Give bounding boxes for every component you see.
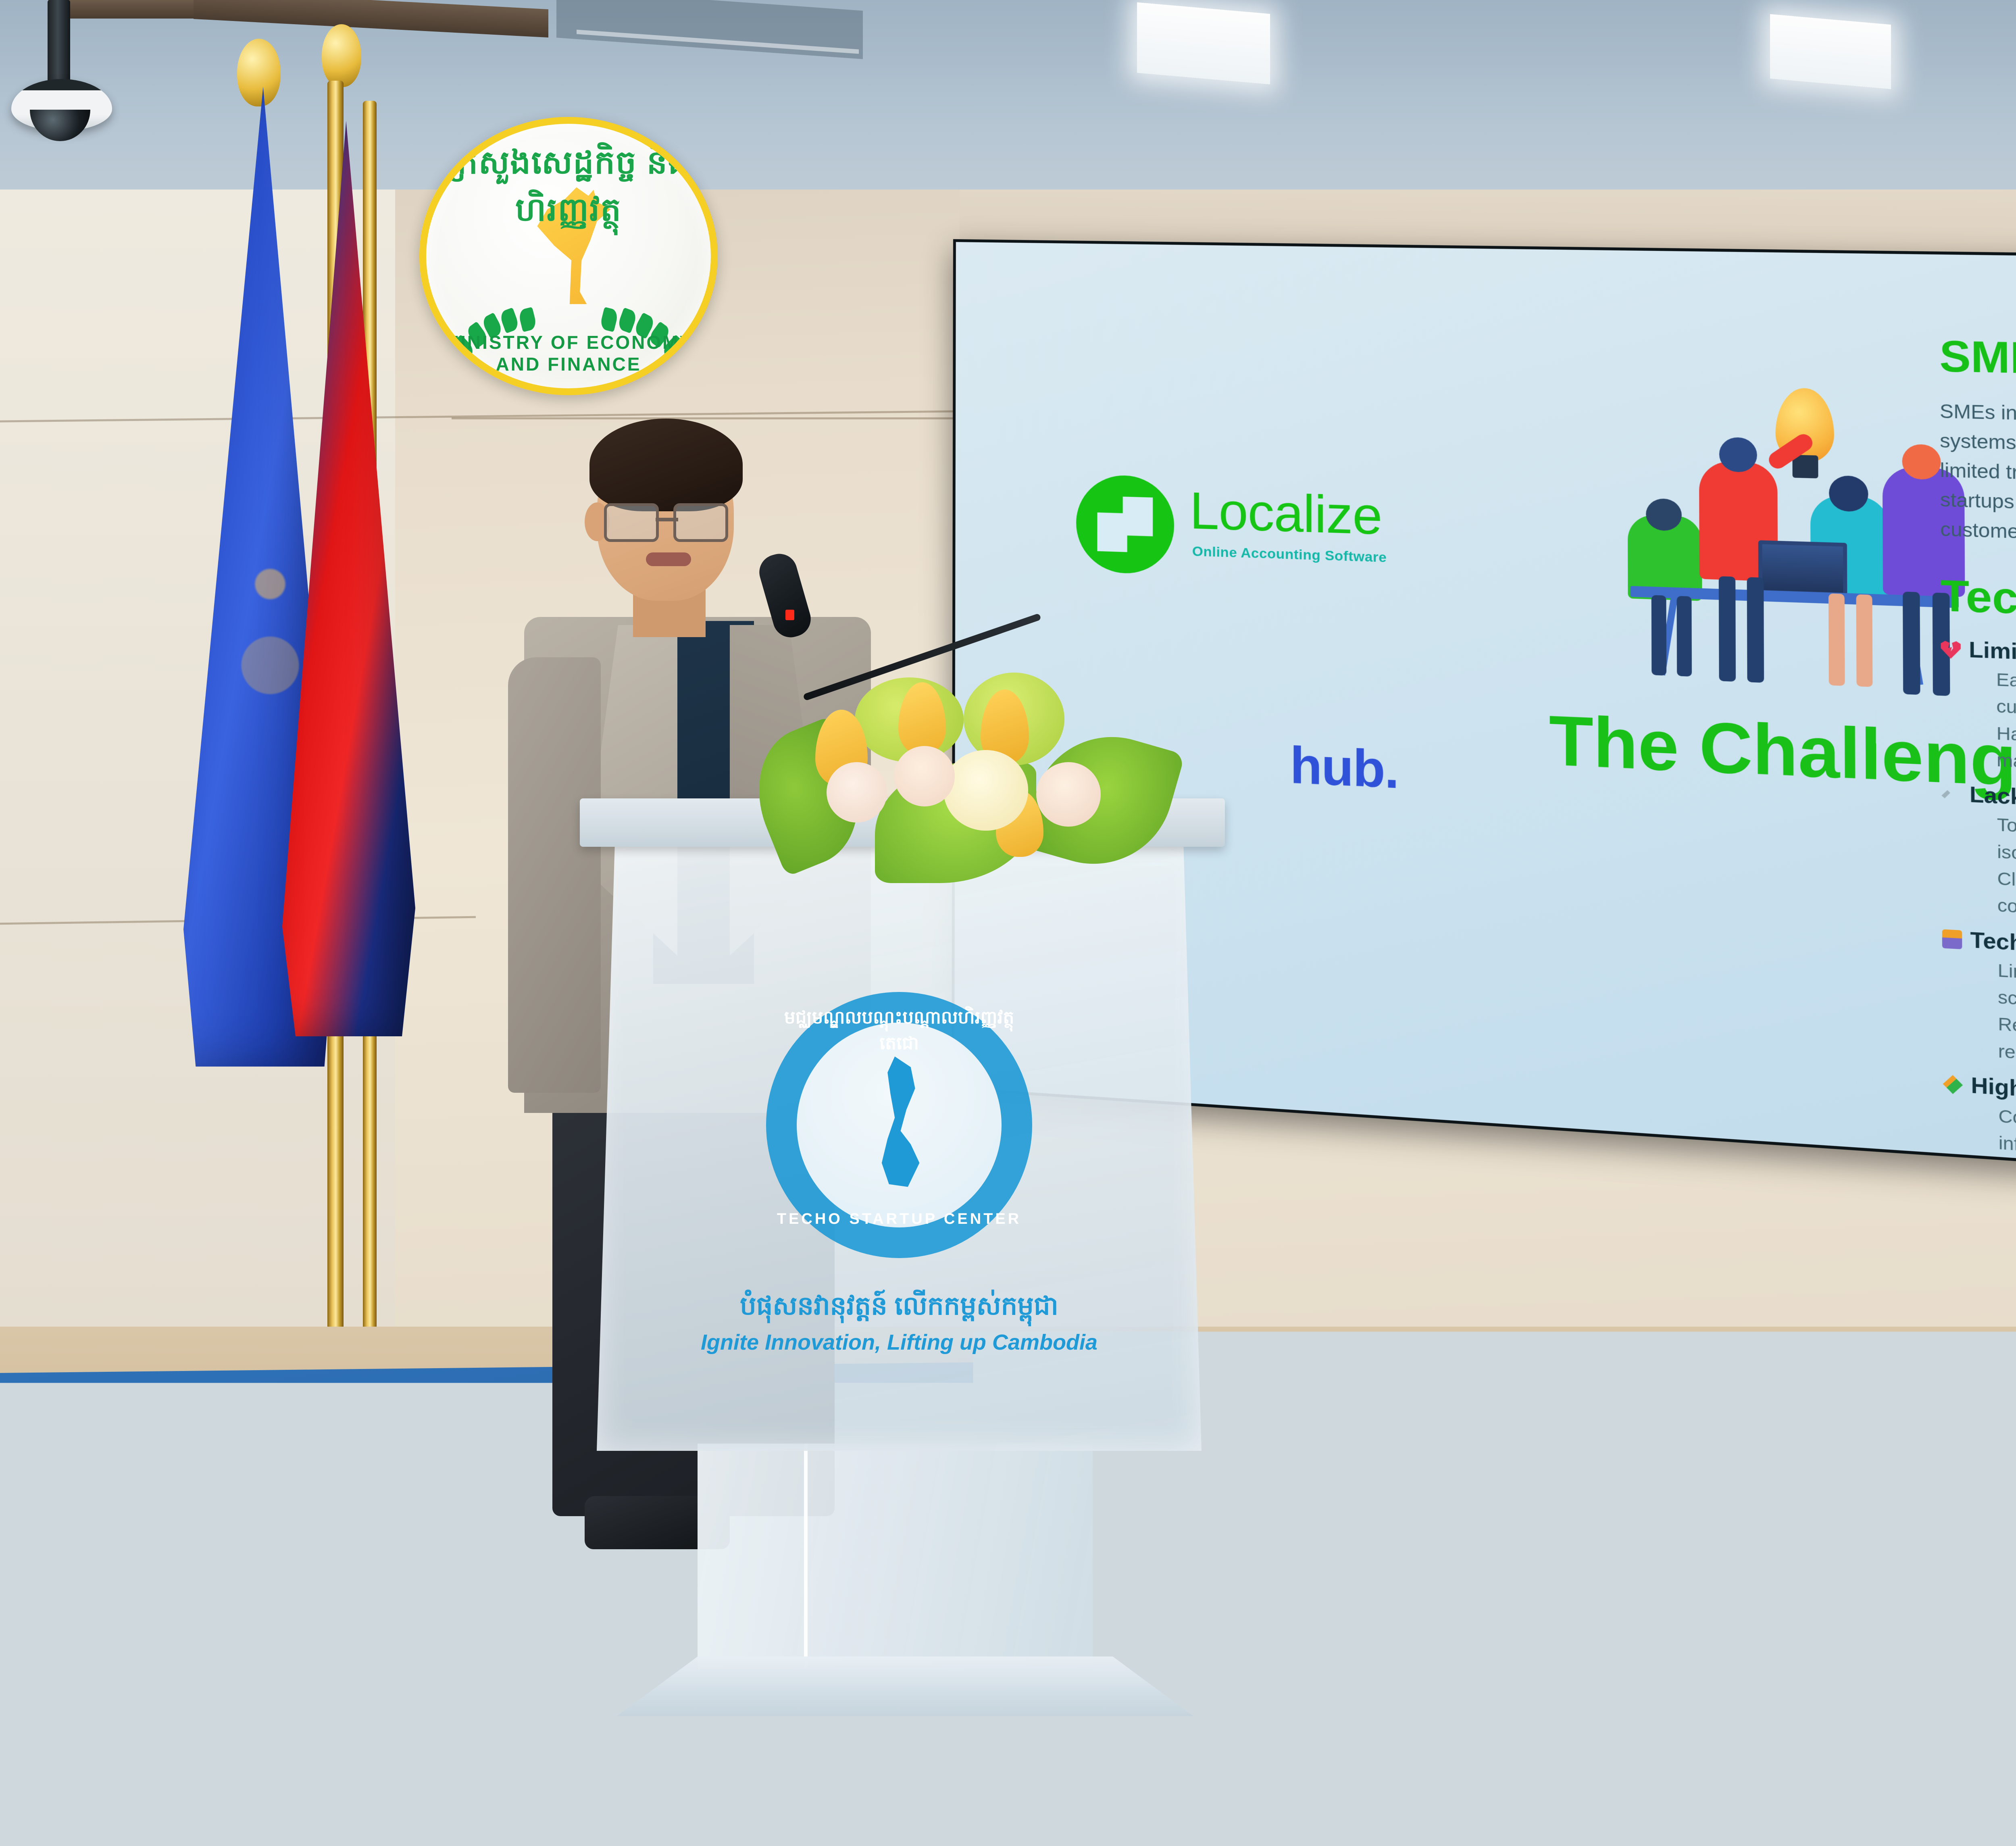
bullet-item: Limited Market Reach Each startup strugg… [1941,636,2016,795]
podium-column-edge [804,1444,808,1669]
bullet-item: Technical Gaps Limited experience in int… [1942,926,2016,1095]
broken-heart-icon [1941,640,1961,659]
flower-arrangement [754,629,1181,895]
podium-english-tagline: Ignite Innovation, Lifting up Cambodia [613,1330,1185,1355]
podium-khmer-tagline: បំផុសនវានុវត្តន៍ លើកកម្ពស់កម្ពុជា [613,1290,1185,1327]
localize-tagline: Online Accounting Software [1192,544,1387,566]
microphone-led-indicator [785,610,794,620]
bullet-item: Lack of Integration Tools (POS, Accounti… [1941,781,2016,945]
localize-name: Localize [1190,481,1382,547]
sme-body: SMEs in Cambodia often rely on manual or… [1940,396,2016,560]
cream-rose [943,750,1028,831]
podium-column [698,1444,1093,1669]
camera-mount [48,0,70,85]
lightbulb-base [1792,455,1818,478]
seal-khmer-text: មជ្ឈមណ្ឌលបណ្ដុះបណ្ដាលហិរញ្ញវត្ថុ តេជោ [766,1006,1032,1058]
speaker-hair [589,419,743,511]
cream-rose [827,762,887,823]
presentation-photo: ក្រសួងសេដ្ឋកិច្ច និង ហិរញ្ញវត្ថុ MINISTR… [0,0,2016,1846]
eyeglasses-icon [673,503,728,542]
cream-rose [894,746,955,806]
sme-heading: SMEs [1939,331,2016,393]
localize-mark-inner [1097,496,1153,553]
eyeglasses-icon [604,503,659,542]
ceiling-beam [48,0,194,19]
flag-finial [237,39,281,106]
cream-rose [1036,762,1101,827]
eyeglasses-bridge [656,518,678,521]
flag-finial [322,24,361,87]
laptop-icon [1758,540,1847,597]
seal-english-text: TECHO STARTUP CENTER [766,1211,1032,1228]
team-brainstorm-lightbulb-illustration [1604,376,1972,683]
bullet-title: Technical Gaps [1970,927,2016,963]
podium-base [617,1656,1193,1716]
localize-logo: Localize Online Accounting Software [1076,470,1527,608]
ceiling-light-panel [1137,2,1270,85]
broken-link-icon [1941,784,1962,804]
emblem-english-text: MINISTRY OF ECONOMY AND FINANCE [426,331,711,375]
ministry-emblem: ក្រសួងសេដ្ឋកិច្ច និង ហិរញ្ញវត្ថុ MINISTR… [419,117,718,395]
person-construction-icon [1942,929,1962,949]
sme-section: SMEs SMEs in Cambodia often rely on manu… [1939,331,2016,560]
podium: មជ្ឈមណ្ឌលបណ្ដុះបណ្ដាលហិរញ្ញវត្ថុ តេជោ TE… [556,798,1246,1726]
tech-startup-section: Tech Startup Limited Market Reach Each s… [1941,571,2016,1215]
speaker-mouth [646,552,691,566]
carpet-front-edge [1202,1730,2016,1846]
emblem-khmer-text: ក្រសួងសេដ្ឋកិច្ច និង ហិរញ្ញវត្ថុ [426,142,711,237]
hub-wordmark: hub. [1290,735,1398,800]
localize-mark-icon [1076,474,1174,575]
money-leaf-icon [1943,1074,1963,1094]
ceiling-light-panel [1770,14,1891,89]
tech-startup-heading: Tech Startup [1941,571,2016,641]
